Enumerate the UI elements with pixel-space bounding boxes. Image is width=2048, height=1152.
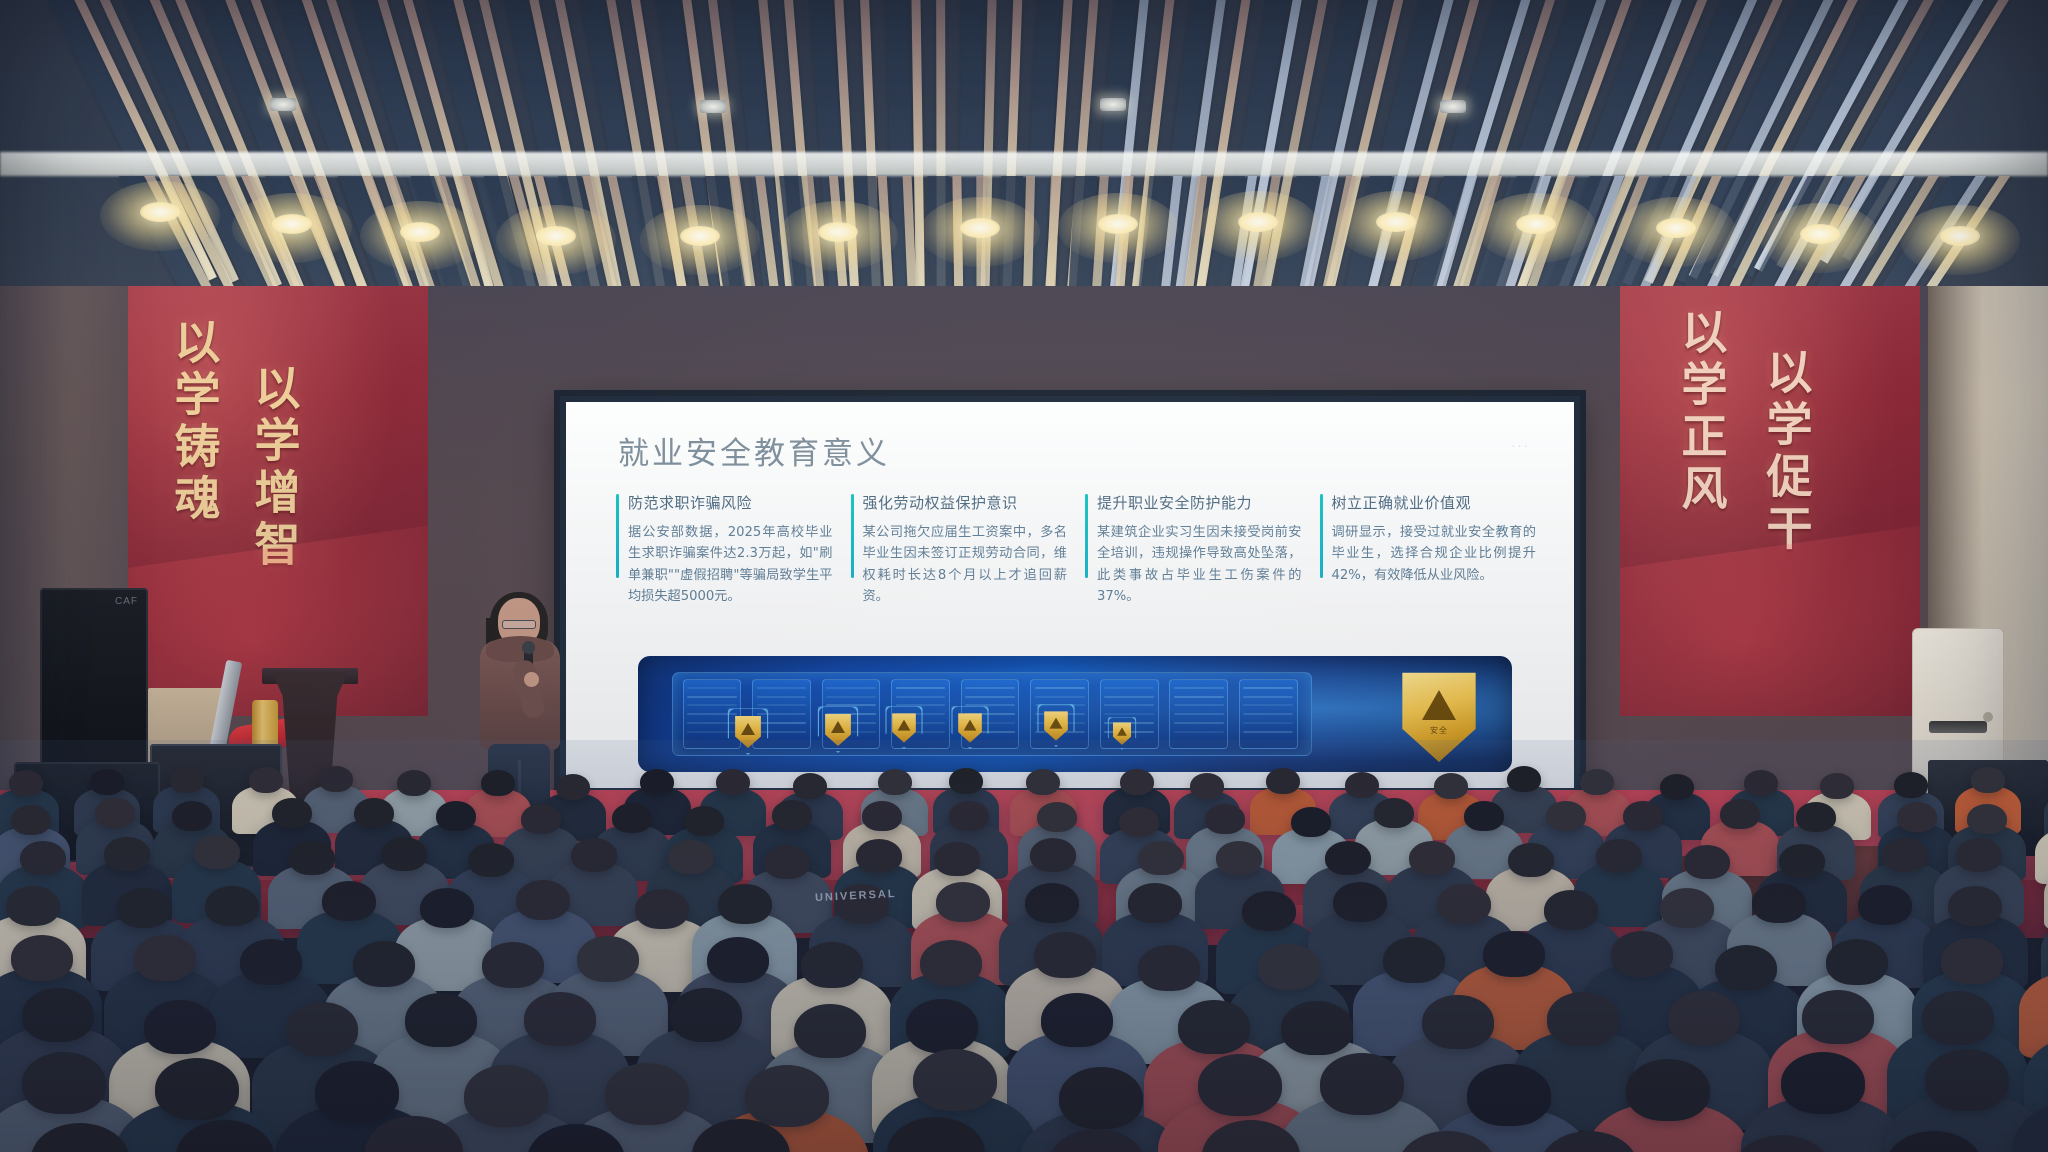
audience-member-head (1941, 938, 2003, 984)
audience-member-head (1546, 801, 1586, 831)
audience-member-head (1205, 804, 1245, 834)
rack-detail-line (1243, 722, 1293, 724)
audience-member-head (1596, 839, 1642, 873)
audience-member-head (556, 774, 590, 800)
audience-member-head (405, 993, 477, 1047)
auditorium-photo: 以学铸魂 以学增智 以学正风 以学促干 就业安全教育意义 ··· 防范求职诈骗风… (0, 0, 2048, 1152)
audience-member-head (420, 888, 474, 928)
audience-member-head (635, 889, 689, 929)
audience-member-head (1660, 774, 1694, 800)
audience-member-head (1796, 802, 1836, 832)
audience-member-head (1752, 883, 1806, 923)
audience-member-head (1383, 937, 1445, 983)
rack-detail-line (1174, 687, 1224, 689)
rack-detail-line (757, 696, 807, 698)
audience-member-head (862, 801, 902, 831)
audience-member-head (794, 1004, 866, 1058)
audience-member-head (1291, 807, 1331, 837)
audience-member-head (878, 769, 912, 795)
slide-watermark: ··· (1511, 438, 1530, 453)
audience-member-head (1779, 844, 1825, 878)
audience-member-head (22, 988, 94, 1042)
audience-member-head (436, 801, 476, 831)
audience-member-head (205, 886, 259, 926)
audience-member-head (1178, 1000, 1250, 1054)
rack-detail-line (965, 687, 1015, 689)
audience-member-head (319, 766, 353, 792)
audience-member-head (1897, 802, 1937, 832)
audience-member-head (801, 942, 863, 988)
audience-member-head (22, 1052, 106, 1114)
column-body: 某建筑企业实习生因未接受岗前安全培训，违规操作导致高处坠落，此类事故占毕业生工伤… (1097, 522, 1302, 608)
audience-member-head (90, 769, 124, 795)
audience-member-head (668, 840, 714, 874)
column-body: 调研显示，接受过就业安全教育的毕业生，选择合规企业比例提升42%，有效降低从业风… (1332, 522, 1537, 586)
audience-member-head (1434, 773, 1468, 799)
audience-member-head (1120, 769, 1154, 795)
audience-member-head (707, 937, 769, 983)
rack-detail-line (1035, 696, 1085, 698)
audience-member-head (521, 804, 561, 834)
ceiling (0, 0, 2048, 300)
rack-detail-line (1035, 687, 1085, 689)
audience-member-head (1720, 799, 1760, 829)
audience-member-head (920, 940, 982, 986)
audience-member-head (1374, 798, 1414, 828)
audience-member-head (1333, 882, 1387, 922)
audience-member-head (1626, 1059, 1710, 1121)
audience-member-head (640, 769, 674, 795)
audience-member-head (1715, 945, 1777, 991)
audience-member-head (117, 888, 171, 928)
speaker-brand-label: CAF (115, 596, 138, 607)
audience-member-head (20, 841, 66, 875)
audience-member-head (1409, 841, 1455, 875)
audience-member-head (1508, 843, 1554, 877)
audience-member-head (464, 1065, 548, 1127)
audience-member-head (1611, 931, 1673, 977)
audience-member-head (906, 999, 978, 1053)
banner-left-line1: 以学铸魂 (168, 318, 220, 526)
slide-column: 强化劳动权益保护意识 某公司拖欠应届生工资案中，多名毕业生因未签订正规劳动合同，… (851, 492, 1068, 608)
audience-member-head (524, 992, 596, 1046)
rack-detail-line (1104, 713, 1154, 715)
audience-member-head (104, 837, 150, 871)
audience-member-head (1422, 995, 1494, 1049)
ceiling-lower-section (0, 176, 2048, 300)
audience-member-head (1242, 891, 1296, 931)
audience-member-head (764, 845, 810, 879)
rack-detail-line (1104, 704, 1154, 706)
audience-member-head (1802, 990, 1874, 1044)
recessed-downlight (270, 98, 296, 111)
audience-member-head (194, 835, 240, 869)
audience-member-head (718, 884, 772, 924)
rack-detail-line (1104, 696, 1154, 698)
audience-member-head (1026, 769, 1060, 795)
audience-member-head (1437, 884, 1491, 924)
rack-detail-line (1174, 713, 1224, 715)
audience-member-head (1483, 931, 1545, 977)
audience-member-head (1820, 773, 1854, 799)
audience-member-head (936, 882, 990, 922)
audience-member-head (353, 941, 415, 987)
audience-member-head (172, 801, 212, 831)
audience-member-head (240, 939, 302, 985)
audience-member-head (1216, 841, 1262, 875)
glasses-icon (502, 620, 536, 629)
rack-detail-line (1174, 704, 1224, 706)
audience-member-head (577, 936, 639, 982)
rack-detail-line (896, 687, 946, 689)
rack-detail-line (687, 696, 737, 698)
recessed-downlight (1440, 100, 1466, 113)
audience-member-head (1059, 1067, 1143, 1129)
audience-member-head (1128, 883, 1182, 923)
audience-member-head (468, 843, 514, 877)
audience-member-head (1967, 804, 2007, 834)
column-heading: 防范求职诈骗风险 (628, 492, 833, 513)
audience-member-head (322, 881, 376, 921)
slide-title: 就业安全教育意义 (618, 428, 890, 473)
rack-detail-line (1243, 687, 1293, 689)
rack-detail-line (826, 696, 876, 698)
shield-label: 安全 (1400, 725, 1478, 736)
rack-detail-line (1243, 731, 1293, 733)
audience-member-head (1345, 772, 1379, 798)
audience-member-head (684, 806, 724, 836)
column-heading: 提升职业安全防护能力 (1097, 492, 1302, 513)
audience-member-head (1464, 801, 1504, 831)
audience-member-head (571, 838, 617, 872)
audience-member-head (1668, 991, 1740, 1045)
rack-detail-line (757, 704, 807, 706)
audience-member-head (95, 798, 135, 828)
audience-member-head (134, 935, 196, 981)
audience-member-head (670, 988, 742, 1042)
audience-member-head (481, 770, 515, 796)
audience-member-head (249, 767, 283, 793)
audience-member-head (11, 935, 73, 981)
audience-member-head (949, 801, 989, 831)
audience-member-head (1041, 993, 1113, 1047)
audience-member-head (1281, 1001, 1353, 1055)
ac-vent (1929, 721, 1987, 733)
presenter-hand (524, 672, 539, 687)
audience-member-head (482, 942, 544, 988)
audience-member-head (11, 805, 51, 835)
rack-detail-line (1174, 731, 1224, 733)
rack-detail-line (1174, 722, 1224, 724)
ac-control-knob (1983, 712, 1993, 722)
audience-member-head (745, 1065, 829, 1127)
rack-detail-line (896, 704, 946, 706)
audience-member-head (1744, 770, 1778, 796)
audience-member-head (1025, 883, 1079, 923)
rack-detail-line (1174, 696, 1224, 698)
rack-detail-line (757, 687, 807, 689)
rack-detail-line (965, 696, 1015, 698)
slide-column: 防范求职诈骗风险 据公安部数据，2025年高校毕业生求职诈骗案件达2.3万起，如… (616, 492, 833, 608)
audience-member-head (354, 798, 394, 828)
audience-member-head (1034, 932, 1096, 978)
rack-detail-line (965, 704, 1015, 706)
audience-member-head (1119, 807, 1159, 837)
banner-right-line2: 以学促干 (1760, 348, 1812, 556)
audience-member-head (286, 1002, 358, 1056)
audience-member-body (2035, 828, 2048, 884)
audience-member-head (289, 841, 335, 875)
audience-member-head (397, 770, 431, 796)
audience-member-head (1971, 767, 2005, 793)
audience-member-head (170, 767, 204, 793)
audience-member-head (1948, 886, 2002, 926)
audience-member-head (716, 769, 750, 795)
server-rack (1169, 679, 1228, 749)
audience-member-head (144, 1000, 216, 1054)
audience-member-head (1138, 945, 1200, 991)
audience-member-head (793, 773, 827, 799)
slide-columns: 防范求职诈骗风险 据公安部数据，2025年高校毕业生求职诈骗案件达2.3万起，如… (616, 492, 1536, 608)
audience-member-head (1580, 769, 1614, 795)
audience-member-head (1190, 773, 1224, 799)
audience-member-head (1684, 845, 1730, 879)
audience-member-head (1467, 1064, 1551, 1126)
slide-column: 树立正确就业价值观 调研显示，接受过就业安全教育的毕业生，选择合规企业比例提升4… (1320, 492, 1537, 608)
audience-member-head (1956, 838, 2002, 872)
audience-member-head (913, 1049, 997, 1111)
presentation-slide: 就业安全教育意义 ··· 防范求职诈骗风险 据公安部数据，2025年高校毕业生求… (566, 402, 1574, 788)
audience-member-head (1198, 1054, 1282, 1116)
recessed-downlight (700, 100, 726, 113)
rack-detail-line (687, 687, 737, 689)
audience-member-head (272, 798, 312, 828)
rack-detail-line (1243, 704, 1293, 706)
ceiling-light-band (0, 152, 2048, 176)
server-rack (1239, 679, 1298, 749)
rack-detail-line (896, 696, 946, 698)
audience-member-head (1925, 1049, 2009, 1111)
projection-screen: 就业安全教育意义 ··· 防范求职诈骗风险 据公安部数据，2025年高校毕业生求… (560, 396, 1580, 794)
banner-left-line2: 以学增智 (248, 364, 300, 572)
audience-member-head (1894, 772, 1928, 798)
audience-member-head (1660, 888, 1714, 928)
column-heading: 树立正确就业价值观 (1332, 492, 1537, 513)
audience-member-head (772, 800, 812, 830)
rack-detail-line (1243, 713, 1293, 715)
audience-member-head (516, 880, 570, 920)
presenter-hood (486, 636, 554, 662)
audience-member-head (949, 768, 983, 794)
audience-member-head (612, 803, 652, 833)
audience-member-head (605, 1063, 689, 1125)
audience-member-head (1623, 801, 1663, 831)
column-body: 某公司拖欠应届生工资案中，多名毕业生因未签订正规劳动合同，维权耗时长达8个月以上… (863, 522, 1068, 608)
audience-member-head (1325, 841, 1371, 875)
audience-member-head (1826, 939, 1888, 985)
audience-member-head (315, 1061, 399, 1123)
banner-left: 以学铸魂 以学增智 (128, 286, 428, 716)
rack-detail-line (1104, 687, 1154, 689)
audience-member-head (1781, 1052, 1865, 1114)
audience-member-head (155, 1058, 239, 1120)
audience-member-head (856, 839, 902, 873)
rack-detail-line (826, 687, 876, 689)
audience-member-head (9, 770, 43, 796)
audience-member-head (1858, 885, 1912, 925)
audience-member-head (1266, 768, 1300, 794)
audience-member-head (1258, 944, 1320, 990)
rack-detail-line (1243, 696, 1293, 698)
audience-member-head (1138, 841, 1184, 875)
audience-member-head (1547, 992, 1619, 1046)
audience-member-head (1544, 890, 1598, 930)
rack-detail-line (687, 704, 737, 706)
audience-member-head (6, 886, 60, 926)
rack-detail-line (826, 704, 876, 706)
banner-right: 以学正风 以学促干 (1620, 286, 1920, 716)
audience-member-head (1882, 838, 1928, 872)
banner-right-line1: 以学正风 (1675, 308, 1727, 516)
audience-member-head (934, 842, 980, 876)
audience-member-head (1507, 766, 1541, 792)
audience-member-head (1030, 838, 1076, 872)
audience-member-head (1320, 1053, 1404, 1115)
audience-member-head (1037, 802, 1077, 832)
recessed-downlight (1100, 98, 1126, 111)
audience-member-head (381, 837, 427, 871)
column-body: 据公安部数据，2025年高校毕业生求职诈骗案件达2.3万起，如"刷单兼职""虚假… (628, 522, 833, 608)
audience: UNIVERSAL (0, 740, 2048, 1152)
audience-member-head (1922, 991, 1994, 1045)
column-heading: 强化劳动权益保护意识 (863, 492, 1068, 513)
slide-column: 提升职业安全防护能力 某建筑企业实习生因未接受岗前安全培训，违规操作导致高处坠落… (1085, 492, 1302, 608)
